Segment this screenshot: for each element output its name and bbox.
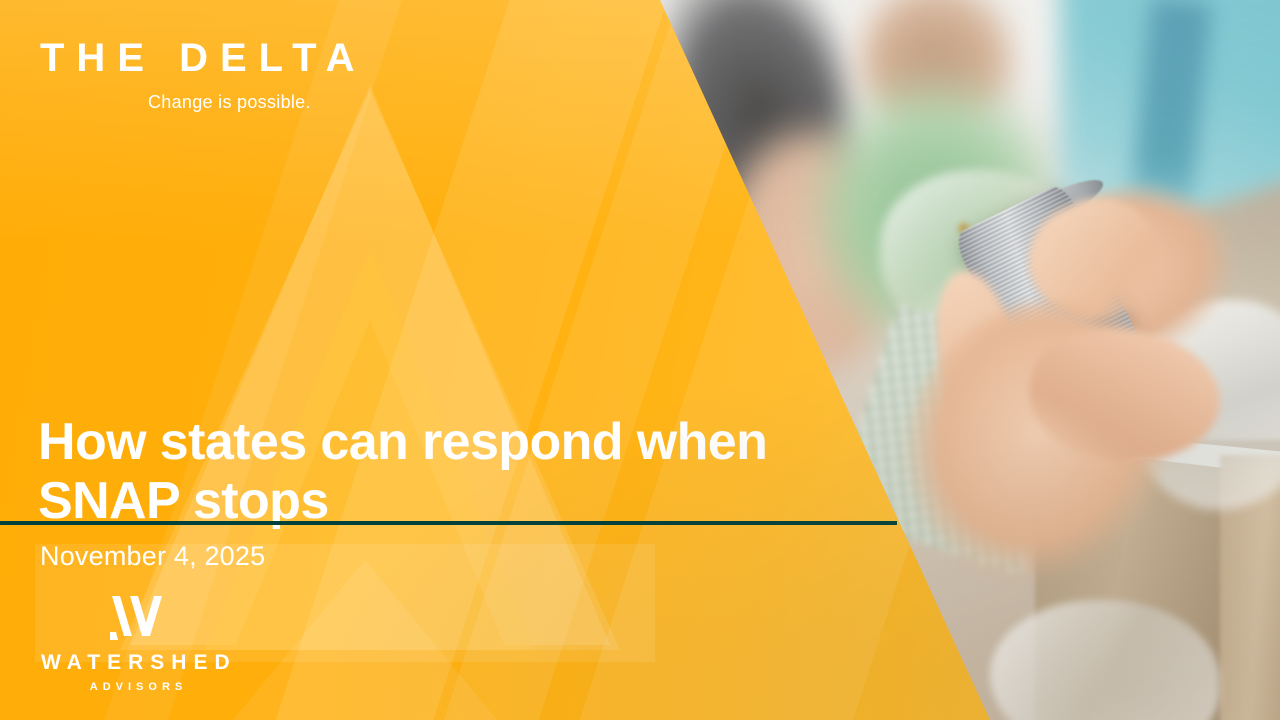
newsletter-hero-banner: THE DELTA Change is possible. How states… [0, 0, 1280, 720]
hero-photo [0, 0, 1280, 720]
photo-light-veil [0, 0, 1280, 720]
